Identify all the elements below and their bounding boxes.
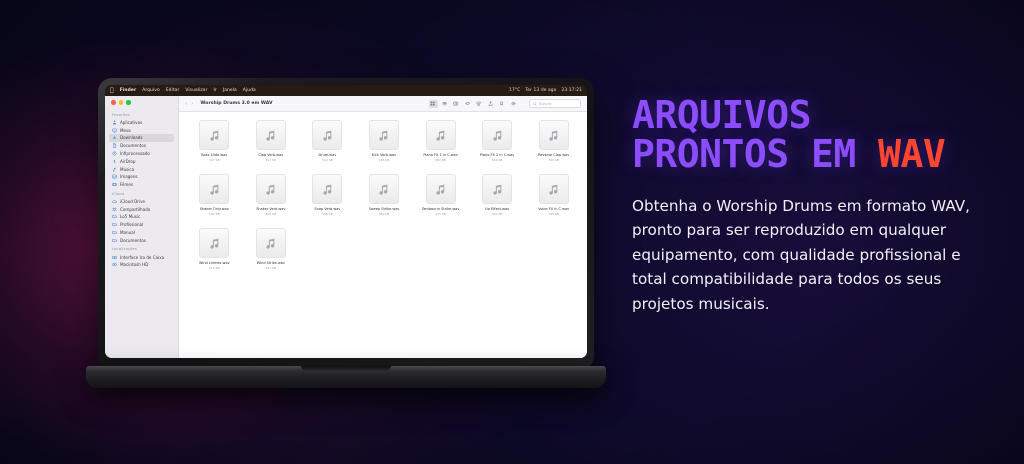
sidebar-item-filmes[interactable]: Filmes	[105, 181, 178, 189]
sidebar-item-label: Manual	[120, 230, 135, 235]
file-name: Reverse Clap.wav	[538, 153, 569, 157]
wav-file-icon	[256, 120, 286, 150]
sidebar-item-icloud-drive[interactable]: iCloud Drive	[105, 198, 178, 206]
sidebar-item-label: Interface Ira de Caixa	[120, 255, 164, 260]
wav-file-icon	[199, 120, 229, 150]
action-button[interactable]	[509, 100, 518, 108]
file-size: 226 KB	[265, 212, 276, 216]
file-name: Shaker Only.wav	[200, 207, 229, 211]
applications-icon	[112, 120, 117, 125]
action-icon	[511, 101, 516, 106]
file-name: Kick Verb.wav	[372, 153, 396, 157]
folder-icon	[112, 238, 117, 243]
finder-toolbar: ‹ › Worship Drums 3.0 em WAV	[179, 96, 587, 112]
file-name: Piano FX 1 in C.wav	[423, 153, 457, 157]
group-icon	[476, 101, 481, 106]
sidebar-section-header: Localizações	[105, 244, 178, 253]
sidebar-item-label: Lo5 Music	[120, 214, 140, 219]
icon-view-button[interactable]	[429, 100, 438, 108]
sidebar-list: FavoritosAplicativosMesaDownloadsDocumen…	[105, 110, 178, 269]
sidebar-item-m-sica[interactable]: Música	[105, 165, 178, 173]
sidebar-item-interface-ira-de-caixa[interactable]: Interface Ira de Caixa	[105, 253, 178, 261]
wav-file-icon	[312, 174, 342, 204]
file-name: Snap Verb.wav	[314, 207, 340, 211]
promo-banner:  Finder Arquivo Editar Visualizar Ir Ja…	[0, 0, 1024, 464]
sidebar-item-mesa[interactable]: Mesa	[105, 126, 178, 134]
sidebar-item-label: Imagens	[120, 174, 138, 179]
macos-menubar:  Finder Arquivo Editar Visualizar Ir Ja…	[105, 85, 587, 96]
harddisk-icon	[112, 262, 117, 267]
file-item[interactable]: Kick Verb.wav248 KB	[357, 120, 412, 174]
folder-icon	[112, 214, 117, 219]
laptop-mockup:  Finder Arquivo Editar Visualizar Ir Ja…	[86, 78, 606, 388]
file-item[interactable]: Piano FX 1 in C.wav681 KB	[413, 120, 468, 174]
file-name: Wind Strike.wav	[257, 261, 285, 265]
wav-file-icon	[256, 174, 286, 204]
back-button[interactable]: ‹	[185, 101, 187, 107]
sidebar-item-imagens[interactable]: Imagens	[105, 173, 178, 181]
sidebar-item-airdrop[interactable]: AirDrop	[105, 157, 178, 165]
file-size: 664 KB	[492, 158, 503, 162]
file-item[interactable]: Piano FX 2 in C.wav664 KB	[470, 120, 525, 174]
wav-file-icon	[426, 120, 456, 150]
file-item[interactable]: Drum.wav512 KB	[300, 120, 355, 174]
close-button[interactable]	[111, 100, 116, 105]
file-item[interactable]: Wind chimes.wav512 KB	[187, 228, 242, 282]
file-name: Clap Verb.wav	[258, 153, 283, 157]
sidebar-item-documentos[interactable]: Documentos	[105, 142, 178, 150]
downloads-icon	[112, 135, 117, 140]
hero-headline: ARQUIVOS PRONTOS EM WAV	[632, 96, 1004, 174]
minimize-button[interactable]	[119, 100, 124, 105]
sidebar-item-compartilhado[interactable]: Compartilhado	[105, 205, 178, 213]
finder-window: FavoritosAplicativosMesaDownloadsDocumen…	[105, 96, 587, 358]
airdrop-icon	[112, 159, 117, 164]
wav-file-icon	[426, 174, 456, 204]
wav-file-icon	[539, 174, 569, 204]
laptop-base-notch	[309, 367, 383, 371]
file-item[interactable]: Wind Strike.wav287 KB	[244, 228, 299, 282]
sidebar-item-label: Downloads	[120, 135, 142, 140]
folder-icon	[112, 222, 117, 227]
file-name: Voice FX in C.wav	[538, 207, 569, 211]
menu-item-visualizar[interactable]: Visualizar	[185, 88, 207, 93]
search-placeholder: Buscar	[539, 101, 552, 106]
menu-item-editar[interactable]: Editar	[166, 88, 180, 93]
file-name: Piano FX 2 in C.wav	[480, 153, 514, 157]
sidebar-section-header: Favoritos	[105, 110, 178, 119]
gallery-icon	[465, 101, 470, 106]
share-icon	[488, 101, 493, 106]
shared-icon	[112, 207, 117, 212]
menu-item-ajuda[interactable]: Ajuda	[243, 88, 256, 93]
disk-icon	[112, 255, 117, 260]
file-name: Shaker Verb.wav	[256, 207, 285, 211]
apple-logo-icon[interactable]: 	[110, 88, 114, 94]
sidebar-item-label: Mesa	[120, 128, 131, 133]
file-item[interactable]: Shaker Verb.wav226 KB	[244, 174, 299, 228]
file-item[interactable]: Up Effect.wav340 KB	[470, 174, 525, 228]
sidebar-item-lo5-music[interactable]: Lo5 Music	[105, 213, 178, 221]
sidebar-item-macintosh-hd[interactable]: Macintosh HD	[105, 261, 178, 269]
desktop-icon	[112, 128, 117, 133]
wav-file-icon	[199, 228, 229, 258]
sidebar-item-label: Compartilhado	[120, 207, 150, 212]
file-size: 194 KB	[209, 212, 220, 216]
movies-icon	[112, 182, 117, 187]
wav-file-icon	[369, 120, 399, 150]
group-button[interactable]	[475, 100, 484, 108]
menubar-weather[interactable]: 17°C	[509, 88, 520, 93]
music-icon	[112, 167, 117, 172]
wav-file-icon	[369, 174, 399, 204]
file-item[interactable]: Sweep Strike.wav389 KB	[357, 174, 412, 228]
zoom-button[interactable]	[126, 100, 131, 105]
file-size: 340 KB	[492, 212, 503, 216]
gallery-view-button[interactable]	[463, 100, 472, 108]
column-view-button[interactable]	[452, 100, 461, 108]
menubar-clock[interactable]: 23:17:21	[561, 88, 582, 93]
sidebar-item-manual[interactable]: Manual	[105, 229, 178, 237]
sidebar-item-label: Música	[120, 167, 134, 172]
images-icon	[112, 174, 117, 179]
sidebar-item-label: Documentos	[120, 238, 146, 243]
file-size: 275 KB	[435, 212, 446, 216]
wav-file-icon	[539, 120, 569, 150]
file-size: 512 KB	[209, 266, 220, 270]
sidebar-item-profissional[interactable]: Profissional	[105, 221, 178, 229]
file-item[interactable]: Bass Slide.wav327 KB	[187, 120, 242, 174]
file-name: Sweep Strike.wav	[369, 207, 400, 211]
toolbar-button-group	[429, 100, 519, 108]
wav-file-icon	[256, 228, 286, 258]
file-size: 681 KB	[435, 158, 446, 162]
sidebar-item-label: Documentos	[120, 143, 146, 148]
menu-item-janela[interactable]: Janela	[223, 88, 237, 93]
finder-window-title: Worship Drums 3.0 em WAV	[200, 101, 272, 106]
file-size: 287 KB	[265, 266, 276, 270]
sidebar-section-header: iCloud	[105, 189, 178, 198]
file-name: Wind chimes.wav	[199, 261, 230, 265]
headline-line-2: PRONTOS EM WAV	[632, 135, 1004, 174]
search-input[interactable]: Buscar	[529, 99, 581, 108]
menu-item-arquivo[interactable]: Arquivo	[142, 88, 160, 93]
sidebar-item-label: Infiprocessado	[120, 151, 150, 156]
wav-file-icon	[482, 120, 512, 150]
sidebar-item-label: Aplicativos	[120, 120, 142, 125]
file-size: 389 KB	[379, 212, 390, 216]
menubar-date[interactable]: Ter 13 de ago	[525, 88, 556, 93]
file-item[interactable]: Tambourin Strike.wav275 KB	[413, 174, 468, 228]
file-size: 455 KB	[548, 212, 559, 216]
sidebar-item-label: Macintosh HD	[120, 262, 148, 267]
wav-file-icon	[199, 174, 229, 204]
recents-icon	[112, 151, 117, 156]
menu-item-finder[interactable]: Finder	[120, 88, 137, 93]
tag-button[interactable]	[498, 100, 507, 108]
documents-icon	[112, 143, 117, 148]
headline-line-2-prefix: PRONTOS EM	[632, 132, 878, 176]
sidebar-item-aplicativos[interactable]: Aplicativos	[105, 119, 178, 127]
laptop-screen:  Finder Arquivo Editar Visualizar Ir Ja…	[105, 85, 587, 358]
traffic-lights	[105, 100, 178, 110]
share-button[interactable]	[486, 100, 495, 108]
wav-file-icon	[482, 174, 512, 204]
menu-item-ir[interactable]: Ir	[214, 88, 217, 93]
file-item[interactable]: Snap Verb.wav158 KB	[300, 174, 355, 228]
list-icon	[442, 101, 447, 106]
laptop-base	[86, 366, 606, 388]
wav-file-icon	[312, 120, 342, 150]
sidebar-item-infiprocessado[interactable]: Infiprocessado	[105, 150, 178, 158]
file-name: Drum.wav	[318, 153, 336, 157]
sidebar-item-downloads[interactable]: Downloads	[109, 134, 174, 142]
file-size: 248 KB	[379, 158, 390, 162]
list-view-button[interactable]	[440, 100, 449, 108]
file-size: 512 KB	[322, 158, 333, 162]
sidebar-item-label: Profissional	[120, 222, 143, 227]
file-size: 421 KB	[265, 158, 276, 162]
grid-icon	[430, 101, 435, 106]
hero-body-copy: Obtenha o Worship Drums em formato WAV, …	[632, 194, 1000, 317]
file-item[interactable]: Voice FX in C.wav455 KB	[526, 174, 581, 228]
file-grid: Bass Slide.wav327 KBClap Verb.wav421 KBD…	[179, 112, 587, 358]
search-icon	[533, 102, 537, 106]
file-item[interactable]: Clap Verb.wav421 KB	[244, 120, 299, 174]
hero-text-block: ARQUIVOS PRONTOS EM WAV Obtenha o Worshi…	[632, 96, 1004, 317]
forward-button[interactable]: ›	[191, 101, 193, 107]
tag-icon	[499, 101, 504, 106]
sidebar-item-label: iCloud Drive	[120, 199, 145, 204]
headline-accent-wav: WAV	[878, 132, 945, 176]
finder-content: ‹ › Worship Drums 3.0 em WAV	[179, 96, 587, 358]
file-item[interactable]: Shaker Only.wav194 KB	[187, 174, 242, 228]
sidebar-item-label: Filmes	[120, 182, 133, 187]
headline-line-1: ARQUIVOS	[632, 96, 1004, 135]
file-size: 158 KB	[322, 212, 333, 216]
file-name: Tambourin Strike.wav	[422, 207, 460, 211]
file-item[interactable]: Reverse Clap.wav303 KB	[526, 120, 581, 174]
file-size: 327 KB	[209, 158, 220, 162]
file-name: Bass Slide.wav	[201, 153, 227, 157]
columns-icon	[453, 101, 458, 106]
file-name: Up Effect.wav	[485, 207, 509, 211]
finder-sidebar: FavoritosAplicativosMesaDownloadsDocumen…	[105, 96, 179, 358]
sidebar-item-documentos[interactable]: Documentos	[105, 236, 178, 244]
nav-arrows: ‹ ›	[185, 101, 193, 107]
folder-icon	[112, 230, 117, 235]
laptop-lid:  Finder Arquivo Editar Visualizar Ir Ja…	[98, 78, 594, 370]
sidebar-item-label: AirDrop	[120, 159, 135, 164]
icloud-icon	[112, 199, 117, 204]
file-size: 303 KB	[548, 158, 559, 162]
